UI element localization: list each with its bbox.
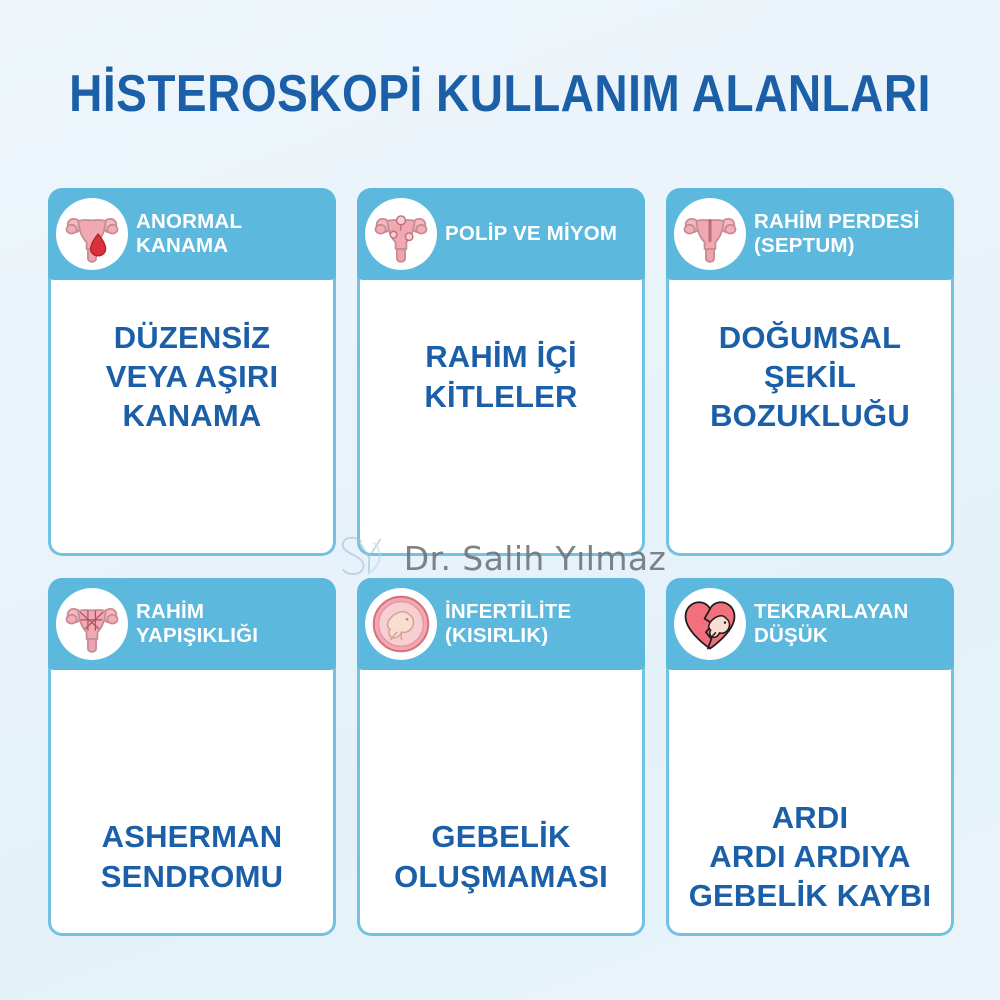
cards-grid: ANORMAL KANAMA DÜZENSİZ VEYA AŞIRI KANAM…: [48, 188, 954, 936]
card-header-label: RAHİM YAPIŞIKLIĞI: [136, 600, 326, 648]
card-header: POLİP VE MİYOM: [357, 188, 645, 280]
card-polip-ve-miyom[interactable]: POLİP VE MİYOM RAHİM İÇİ KİTLELER: [357, 188, 645, 556]
uterus-bleeding-icon: [56, 198, 128, 270]
card-header: RAHİM PERDESİ (SEPTUM): [666, 188, 954, 280]
card-header-label: RAHİM PERDESİ (SEPTUM): [754, 210, 944, 258]
card-header-label: ANORMAL KANAMA: [136, 210, 326, 258]
card-header-label: POLİP VE MİYOM: [445, 222, 617, 246]
card-body: ARDI ARDI ARDIYA GEBELİK KAYBI: [666, 664, 954, 936]
card-anormal-kanama[interactable]: ANORMAL KANAMA DÜZENSİZ VEYA AŞIRI KANAM…: [48, 188, 336, 556]
uterus-polyp-fibroid-icon: [365, 198, 437, 270]
card-body-label: DÜZENSİZ VEYA AŞIRI KANAMA: [98, 318, 287, 435]
uterus-adhesion-icon: [56, 588, 128, 660]
card-body-label: ARDI ARDI ARDIYA GEBELİK KAYBI: [681, 798, 940, 915]
card-body: GEBELİK OLUŞMAMASI: [357, 664, 645, 936]
card-header: ANORMAL KANAMA: [48, 188, 336, 280]
card-body: DOĞUMSAL ŞEKİL BOZUKLUĞU: [666, 274, 954, 556]
card-body-label: DOĞUMSAL ŞEKİL BOZUKLUĞU: [702, 318, 918, 435]
embryo-icon: [365, 588, 437, 660]
card-header: İNFERTİLİTE (KISIRLIK): [357, 578, 645, 670]
page-title: HİSTEROSKOPİ KULLANIM ALANLARI: [69, 63, 931, 123]
card-rahim-yapisikligi[interactable]: RAHİM YAPIŞIKLIĞI ASHERMAN SENDROMU: [48, 578, 336, 936]
card-body-label: ASHERMAN SENDROMU: [93, 817, 291, 895]
card-body: DÜZENSİZ VEYA AŞIRI KANAMA: [48, 274, 336, 556]
card-body: ASHERMAN SENDROMU: [48, 664, 336, 936]
card-header-label: İNFERTİLİTE (KISIRLIK): [445, 600, 635, 648]
card-tekrarlayan-dusuk[interactable]: TEKRARLAYAN DÜŞÜK ARDI ARDI ARDIYA GEBEL…: [666, 578, 954, 936]
card-infertilite-kisirlik[interactable]: İNFERTİLİTE (KISIRLIK) GEBELİK OLUŞMAMAS…: [357, 578, 645, 936]
card-header-label: TEKRARLAYAN DÜŞÜK: [754, 600, 944, 648]
page-title-container: HİSTEROSKOPİ KULLANIM ALANLARI: [0, 0, 1000, 120]
card-body-label: GEBELİK OLUŞMAMASI: [386, 817, 616, 895]
card-header: RAHİM YAPIŞIKLIĞI: [48, 578, 336, 670]
card-rahim-perdesi-septum[interactable]: RAHİM PERDESİ (SEPTUM) DOĞUMSAL ŞEKİL BO…: [666, 188, 954, 556]
broken-heart-fetus-icon: [674, 588, 746, 660]
uterus-septum-icon: [674, 198, 746, 270]
infographic-page: HİSTEROSKOPİ KULLANIM ALANLARI: [0, 0, 1000, 1000]
card-header: TEKRARLAYAN DÜŞÜK: [666, 578, 954, 670]
card-body: RAHİM İÇİ KİTLELER: [357, 274, 645, 556]
card-body-label: RAHİM İÇİ KİTLELER: [416, 337, 585, 415]
